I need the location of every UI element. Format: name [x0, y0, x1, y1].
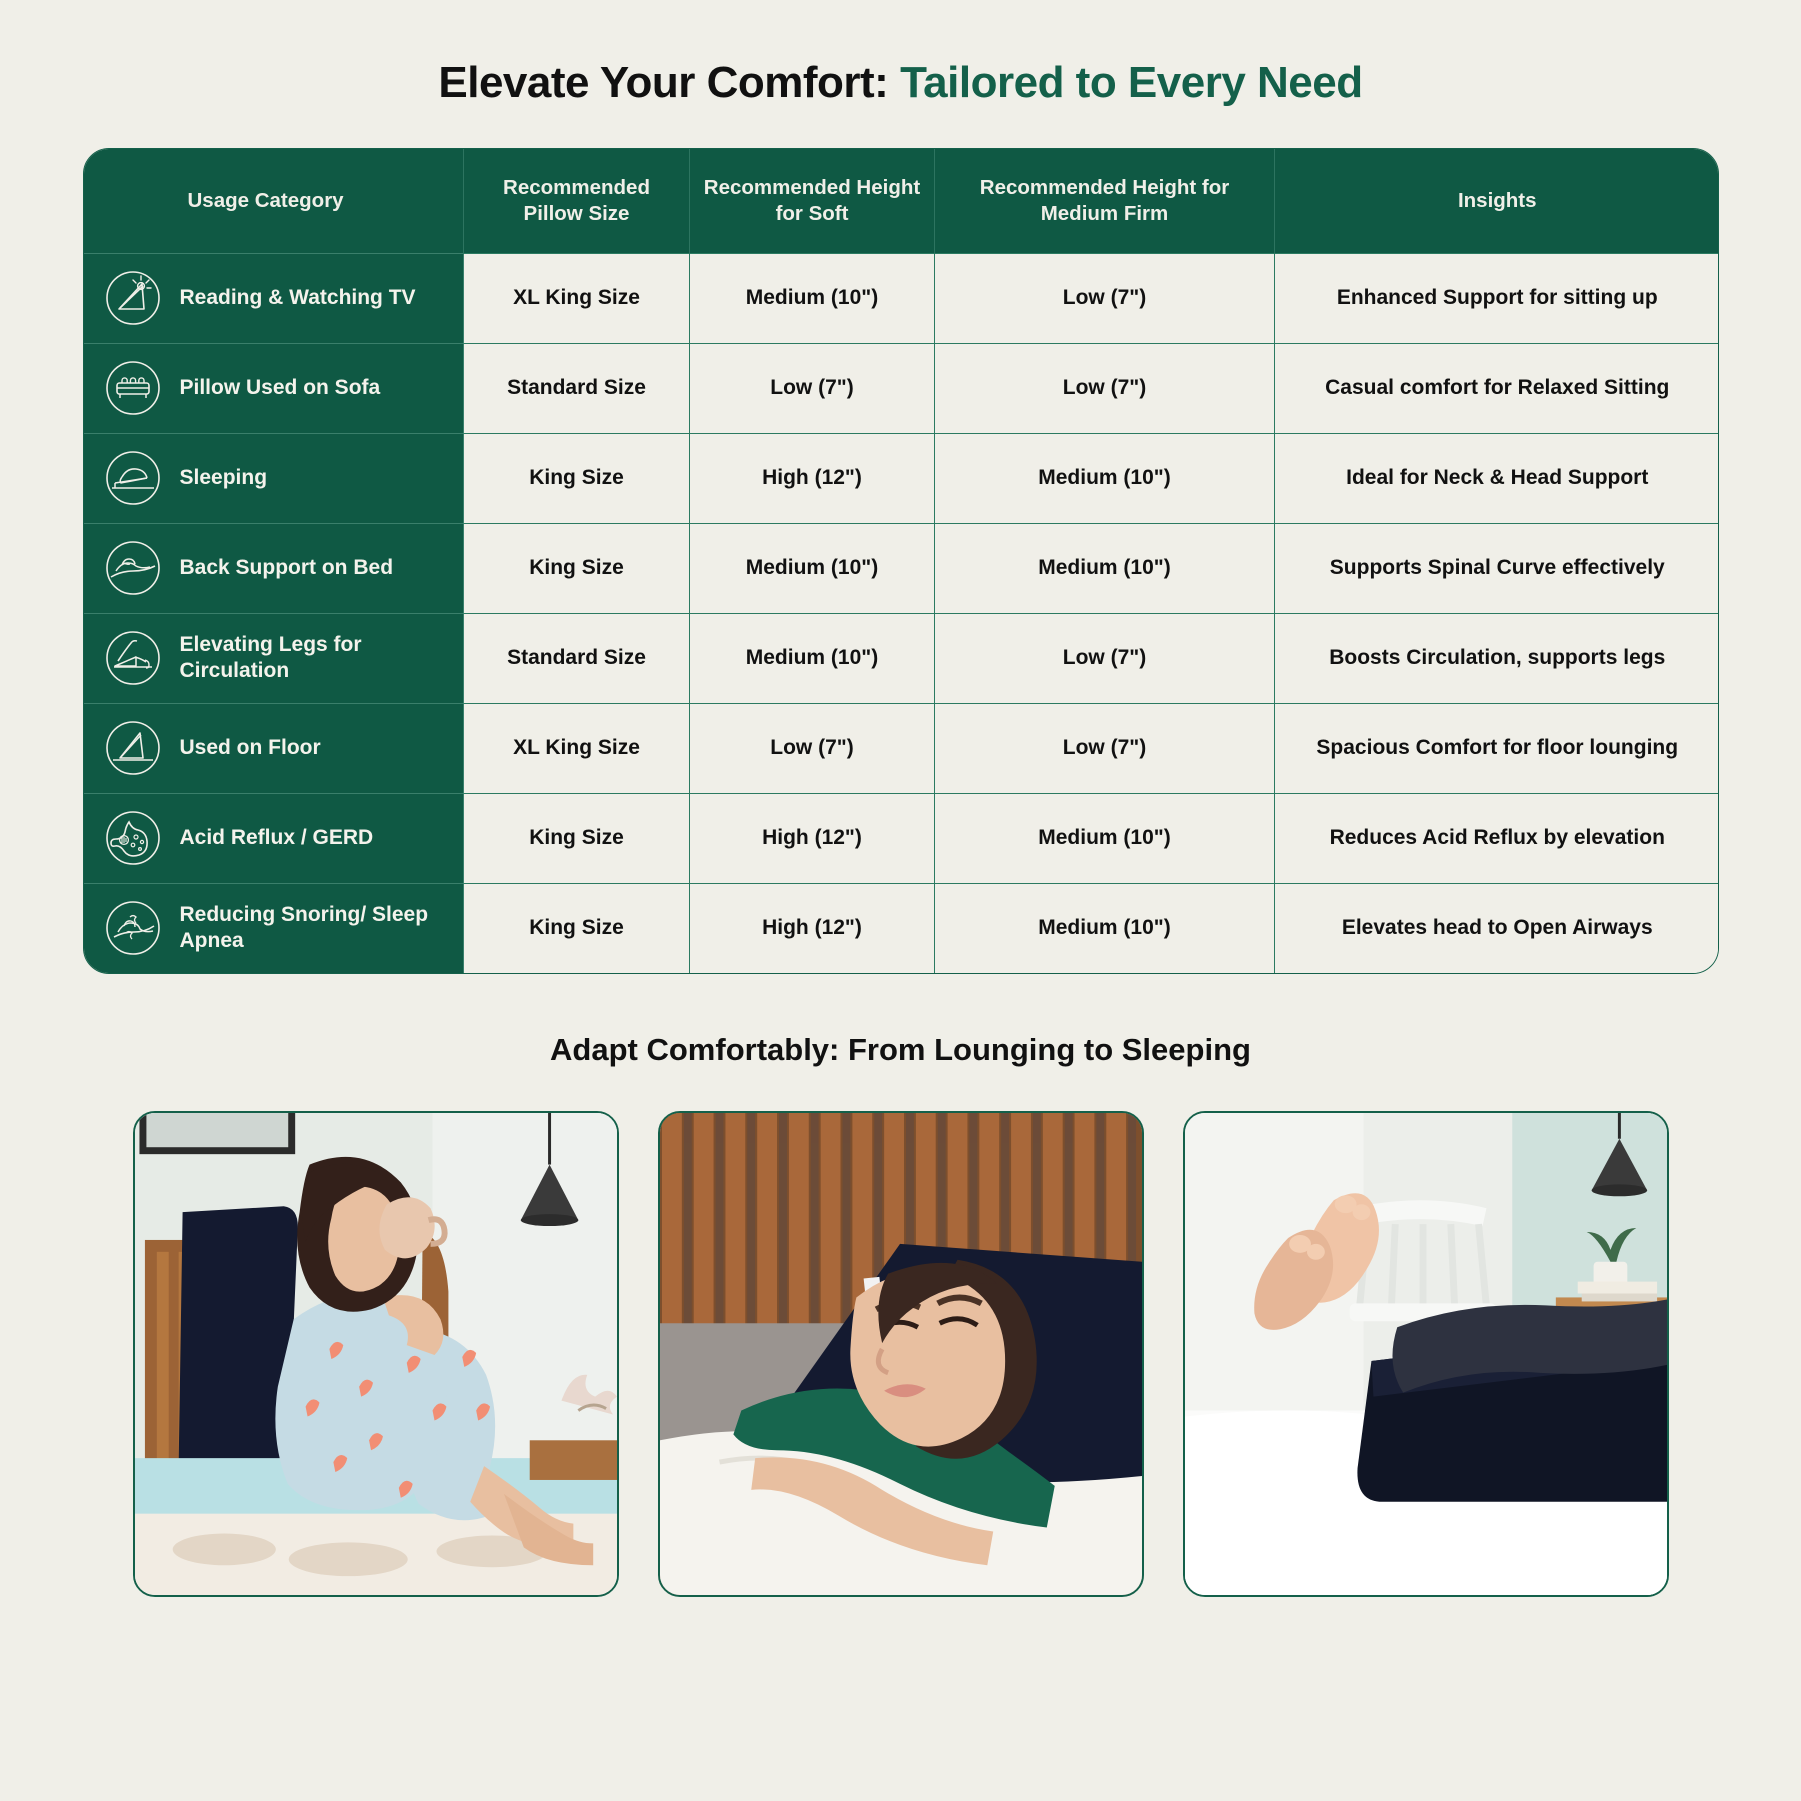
insight-cell: Reduces Acid Reflux by elevation — [1275, 793, 1719, 883]
insight-cell: Casual comfort for Relaxed Sitting — [1275, 343, 1719, 433]
page-title-accent: Tailored to Every Need — [900, 58, 1363, 107]
usage-category-cell: Sleeping — [84, 433, 464, 523]
photo-gallery — [0, 1111, 1801, 1597]
pillow-size-cell: King Size — [464, 433, 690, 523]
height-soft-cell: Medium (10") — [690, 613, 935, 703]
height-soft-cell: Low (7") — [690, 343, 935, 433]
height-soft-cell: Medium (10") — [690, 523, 935, 613]
usage-category-label: Sleeping — [180, 465, 268, 491]
usage-category-cell: Back Support on Bed — [84, 523, 464, 613]
insight-cell: Elevates head to Open Airways — [1275, 883, 1719, 973]
usage-category-label: Reading & Watching TV — [180, 285, 416, 311]
section-subheading: Adapt Comfortably: From Lounging to Slee… — [0, 1032, 1801, 1068]
height-medium-firm-cell: Medium (10") — [935, 523, 1275, 613]
insight-cell: Spacious Comfort for floor lounging — [1275, 703, 1719, 793]
table-row: Elevating Legs for CirculationStandard S… — [84, 613, 1719, 703]
height-medium-firm-cell: Low (7") — [935, 613, 1275, 703]
page-title: Elevate Your Comfort: Tailored to Every … — [0, 0, 1801, 108]
insight-cell: Boosts Circulation, supports legs — [1275, 613, 1719, 703]
table-row: Reading & Watching TVXL King SizeMedium … — [84, 253, 1719, 343]
table-row: Acid Reflux / GERDKing SizeHigh (12")Med… — [84, 793, 1719, 883]
photo-legs-elevated — [1183, 1111, 1669, 1597]
height-soft-cell: Medium (10") — [690, 253, 935, 343]
height-soft-cell: Low (7") — [690, 703, 935, 793]
photo-reading-in-bed — [133, 1111, 619, 1597]
table-body: Reading & Watching TVXL King SizeMedium … — [84, 253, 1719, 973]
photo-legs-elevated-illustration — [1185, 1113, 1667, 1595]
snoring-sleep-apnea-icon — [102, 897, 164, 959]
table-row: Reducing Snoring/ Sleep ApneaKing SizeHi… — [84, 883, 1719, 973]
elevating-legs-icon — [102, 627, 164, 689]
wedge-pillow-reading-icon — [102, 267, 164, 329]
height-medium-firm-cell: Medium (10") — [935, 433, 1275, 523]
usage-category-cell: Pillow Used on Sofa — [84, 343, 464, 433]
usage-category-cell: Used on Floor — [84, 703, 464, 793]
insight-cell: Ideal for Neck & Head Support — [1275, 433, 1719, 523]
height-medium-firm-cell: Low (7") — [935, 703, 1275, 793]
photo-reading-in-bed-illustration — [135, 1113, 617, 1595]
height-medium-firm-cell: Medium (10") — [935, 793, 1275, 883]
table-row: Pillow Used on SofaStandard SizeLow (7")… — [84, 343, 1719, 433]
height-medium-firm-cell: Medium (10") — [935, 883, 1275, 973]
table-header-row: Usage Category Recommended Pillow Size R… — [84, 149, 1719, 253]
pillow-size-cell: King Size — [464, 883, 690, 973]
column-header-usage-category: Usage Category — [84, 149, 464, 253]
column-header-insights: Insights — [1275, 149, 1719, 253]
height-soft-cell: High (12") — [690, 793, 935, 883]
usage-category-cell: Acid Reflux / GERD — [84, 793, 464, 883]
page-title-lead: Elevate Your Comfort: — [438, 58, 900, 107]
usage-category-cell: Reducing Snoring/ Sleep Apnea — [84, 883, 464, 973]
back-support-icon — [102, 537, 164, 599]
usage-category-label: Acid Reflux / GERD — [180, 825, 374, 851]
sleeping-head-icon — [102, 447, 164, 509]
comfort-table-container: Usage Category Recommended Pillow Size R… — [83, 148, 1719, 974]
usage-category-cell: Reading & Watching TV — [84, 253, 464, 343]
usage-category-label: Pillow Used on Sofa — [180, 375, 381, 401]
height-soft-cell: High (12") — [690, 883, 935, 973]
table-row: SleepingKing SizeHigh (12")Medium (10")I… — [84, 433, 1719, 523]
pillow-size-cell: Standard Size — [464, 613, 690, 703]
column-header-height-soft: Recommended Height for Soft — [690, 149, 935, 253]
pillow-size-cell: King Size — [464, 523, 690, 613]
height-soft-cell: High (12") — [690, 433, 935, 523]
usage-category-label: Used on Floor — [180, 735, 321, 761]
insight-cell: Supports Spinal Curve effectively — [1275, 523, 1719, 613]
pillow-size-cell: King Size — [464, 793, 690, 883]
column-header-pillow-size: Recommended Pillow Size — [464, 149, 690, 253]
photo-sleeping-on-wedge — [658, 1111, 1144, 1597]
usage-category-cell: Elevating Legs for Circulation — [84, 613, 464, 703]
usage-category-label: Back Support on Bed — [180, 555, 394, 581]
usage-category-label: Elevating Legs for Circulation — [180, 632, 450, 684]
table-header: Usage Category Recommended Pillow Size R… — [84, 149, 1719, 253]
pillow-size-cell: XL King Size — [464, 703, 690, 793]
wedge-on-floor-icon — [102, 717, 164, 779]
pillow-size-cell: XL King Size — [464, 253, 690, 343]
sofa-icon — [102, 357, 164, 419]
insight-cell: Enhanced Support for sitting up — [1275, 253, 1719, 343]
usage-category-label: Reducing Snoring/ Sleep Apnea — [180, 902, 450, 954]
table-row: Used on FloorXL King SizeLow (7")Low (7"… — [84, 703, 1719, 793]
table-row: Back Support on BedKing SizeMedium (10")… — [84, 523, 1719, 613]
stomach-acid-reflux-icon — [102, 807, 164, 869]
photo-sleeping-on-wedge-illustration — [660, 1113, 1142, 1595]
comfort-table: Usage Category Recommended Pillow Size R… — [84, 149, 1719, 973]
pillow-size-cell: Standard Size — [464, 343, 690, 433]
column-header-height-medium-firm: Recommended Height for Medium Firm — [935, 149, 1275, 253]
infographic-page: Elevate Your Comfort: Tailored to Every … — [0, 0, 1801, 1801]
height-medium-firm-cell: Low (7") — [935, 253, 1275, 343]
height-medium-firm-cell: Low (7") — [935, 343, 1275, 433]
